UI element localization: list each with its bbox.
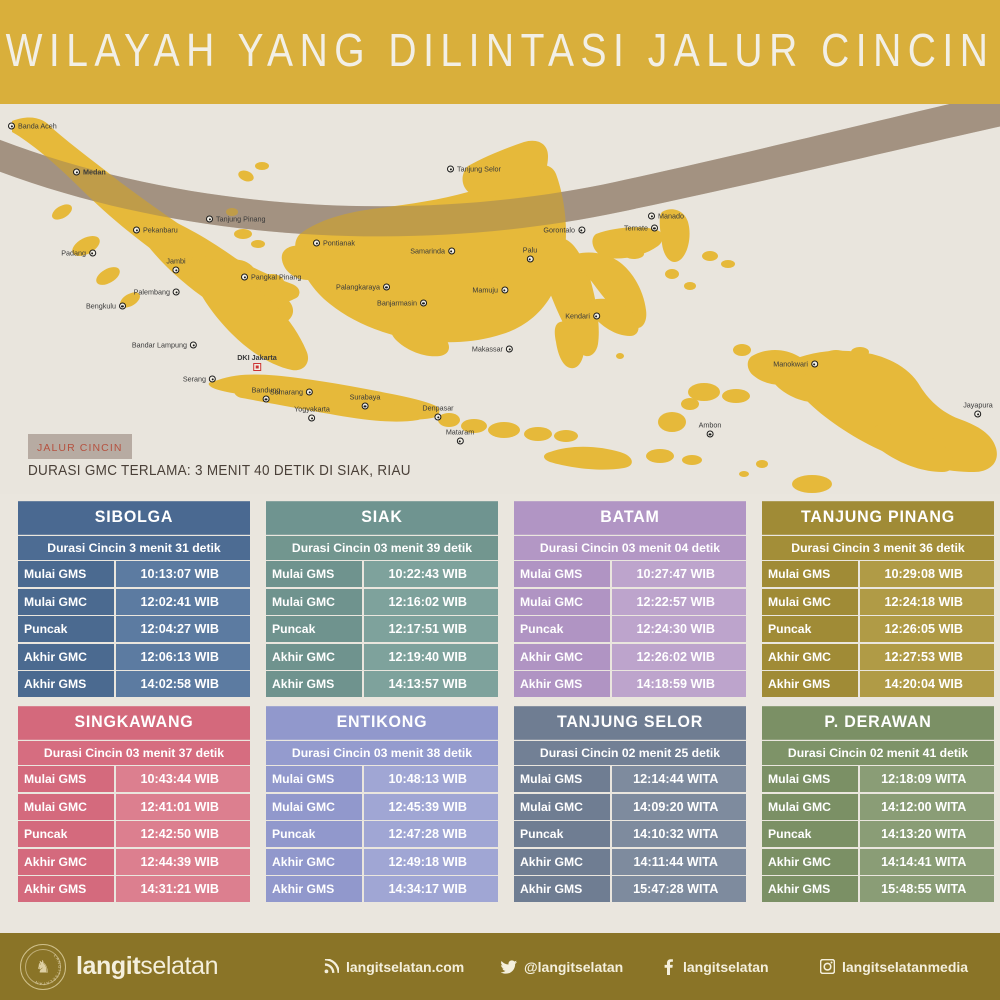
- card-row-value: 12:06:13 WIB: [116, 644, 251, 670]
- map-city-label: Tanjung Pinang: [216, 215, 266, 224]
- city-marker-icon: [447, 166, 454, 173]
- map-city-gorontalo: Gorontalo: [543, 226, 585, 235]
- map-city-label: Jambi: [166, 257, 185, 266]
- card-row-value: 12:19:40 WIB: [364, 644, 499, 670]
- brand-wordmark: langitselatan: [76, 954, 218, 979]
- card-row-value: 12:16:02 WIB: [364, 589, 499, 615]
- location-card: TANJUNG PINANGDurasi Cincin 3 menit 36 d…: [762, 502, 994, 697]
- card-time-row: Akhir GMS14:18:59 WIB: [514, 671, 746, 697]
- card-duration: Durasi Cincin 03 menit 39 detik: [266, 536, 498, 560]
- card-row-label: Mulai GMC: [514, 589, 610, 615]
- card-time-row: Akhir GMC14:11:44 WITA: [514, 849, 746, 875]
- card-city-title: SINGKAWANG: [18, 706, 250, 740]
- card-row-value: 12:02:41 WIB: [116, 589, 251, 615]
- city-marker-icon: [501, 287, 508, 294]
- map-city-dki-jakarta: DKI Jakarta: [237, 353, 277, 371]
- social-website[interactable]: langitselatan.com: [322, 958, 464, 976]
- city-marker-icon: [506, 346, 513, 353]
- card-row-value: 14:13:57 WIB: [364, 671, 499, 697]
- card-row-label: Akhir GMS: [266, 671, 362, 697]
- map-city-label: Bengkulu: [86, 302, 116, 311]
- map-city-bengkulu: Bengkulu: [86, 302, 126, 311]
- map-city-pontianak: Pontianak: [313, 239, 355, 248]
- map-city-palu: Palu: [523, 246, 537, 263]
- map-city-label: Palembang: [134, 288, 170, 297]
- city-marker-icon: [173, 267, 180, 274]
- map-city-bandar-lampung: Bandar Lampung: [132, 341, 197, 350]
- card-row-label: Puncak: [762, 821, 858, 847]
- card-time-row: Puncak12:47:28 WIB: [266, 821, 498, 847]
- legend-subtitle: DURASI GMC TERLAMA: 3 MENIT 40 DETIK DI …: [28, 462, 411, 478]
- brand-light-text: selatan: [140, 952, 218, 980]
- card-time-row: Akhir GMC12:26:02 WIB: [514, 644, 746, 670]
- card-row-value: 14:20:04 WIB: [860, 671, 995, 697]
- map-city-label: Serang: [183, 375, 206, 384]
- card-duration: Durasi Cincin 03 menit 38 detik: [266, 741, 498, 765]
- map-city-label: Makassar: [472, 345, 503, 354]
- card-time-row: Mulai GMS12:18:09 WITA: [762, 766, 994, 792]
- city-marker-icon: [383, 284, 390, 291]
- map-city-pekanbaru: Pekanbaru: [133, 226, 178, 235]
- map-city-palembang: Palembang: [134, 288, 180, 297]
- map-city-label: Jayapura: [963, 401, 993, 410]
- card-row-value: 14:11:44 WITA: [612, 849, 747, 875]
- card-time-row: Puncak12:42:50 WIB: [18, 821, 250, 847]
- card-time-row: Akhir GMC12:44:39 WIB: [18, 849, 250, 875]
- brand-block: LANGITSELATAN ♞ langitselatan: [20, 944, 218, 990]
- location-card: SINGKAWANGDurasi Cincin 03 menit 37 deti…: [18, 707, 250, 902]
- card-time-row: Akhir GMC12:27:53 WIB: [762, 644, 994, 670]
- legend-label: JALUR CINCIN: [37, 442, 123, 454]
- map-city-label: Ambon: [699, 421, 722, 430]
- card-row-label: Mulai GMS: [18, 561, 114, 587]
- card-time-row: Mulai GMS10:43:44 WIB: [18, 766, 250, 792]
- card-row-label: Mulai GMC: [266, 589, 362, 615]
- card-time-row: Akhir GMS14:02:58 WIB: [18, 671, 250, 697]
- city-marker-icon: [190, 342, 197, 349]
- card-duration: Durasi Cincin 02 menit 25 detik: [514, 741, 746, 765]
- card-row-value: 10:22:43 WIB: [364, 561, 499, 587]
- map-city-tanjung-selor: Tanjung Selor: [447, 165, 501, 174]
- card-time-row: Akhir GMS14:31:21 WIB: [18, 876, 250, 902]
- city-marker-icon: [526, 256, 533, 263]
- card-time-row: Puncak14:10:32 WITA: [514, 821, 746, 847]
- card-duration: Durasi Cincin 3 menit 36 detik: [762, 536, 994, 560]
- card-row-value: 12:26:05 WIB: [860, 616, 995, 642]
- city-marker-icon: [89, 250, 96, 257]
- map-city-padang: Padang: [61, 249, 96, 258]
- card-row-value: 14:18:59 WIB: [612, 671, 747, 697]
- card-time-row: Mulai GMC12:22:57 WIB: [514, 589, 746, 615]
- map-city-tanjung-pinang: Tanjung Pinang: [206, 215, 266, 224]
- card-city-title: TANJUNG PINANG: [762, 501, 994, 535]
- map-city-banda-aceh: Banda Aceh: [8, 122, 57, 131]
- card-city-title: SIBOLGA: [18, 501, 250, 535]
- map-city-denpasar: Denpasar: [422, 404, 453, 421]
- card-row-label: Akhir GMC: [762, 849, 858, 875]
- card-row-label: Mulai GMS: [266, 561, 362, 587]
- card-time-row: Mulai GMC14:12:00 WITA: [762, 794, 994, 820]
- map-city-label: Pontianak: [323, 239, 355, 248]
- city-marker-icon: [73, 169, 80, 176]
- social-facebook-label: langitselatan: [683, 959, 769, 975]
- city-marker-icon: [974, 411, 981, 418]
- city-marker-icon: [578, 227, 585, 234]
- card-row-label: Mulai GMC: [18, 589, 114, 615]
- card-city-title: P. DERAWAN: [762, 706, 994, 740]
- city-marker-icon: [420, 300, 427, 307]
- card-row-label: Akhir GMC: [18, 849, 114, 875]
- social-instagram[interactable]: langitselatanmedia: [818, 958, 968, 976]
- card-row-value: 12:18:09 WITA: [860, 766, 995, 792]
- card-row-value: 14:31:21 WIB: [116, 876, 251, 902]
- card-row-value: 14:09:20 WITA: [612, 794, 747, 820]
- card-time-row: Puncak12:26:05 WIB: [762, 616, 994, 642]
- card-time-row: Akhir GMC12:19:40 WIB: [266, 644, 498, 670]
- map-city-makassar: Makassar: [472, 345, 513, 354]
- map-city-label: Gorontalo: [543, 226, 575, 235]
- card-row-value: 12:45:39 WIB: [364, 794, 499, 820]
- map-city-label: Semarang: [270, 388, 303, 397]
- social-facebook[interactable]: langitselatan: [659, 958, 769, 976]
- location-card: TANJUNG SELORDurasi Cincin 02 menit 25 d…: [514, 707, 746, 902]
- location-card: BATAMDurasi Cincin 03 menit 04 detikMula…: [514, 502, 746, 697]
- card-row-value: 12:22:57 WIB: [612, 589, 747, 615]
- card-row-value: 15:48:55 WITA: [860, 876, 995, 902]
- card-row-value: 12:49:18 WIB: [364, 849, 499, 875]
- city-marker-icon: [651, 225, 658, 232]
- city-marker-icon: [811, 361, 818, 368]
- instagram-icon: [818, 958, 836, 976]
- card-time-row: Mulai GMC12:02:41 WIB: [18, 589, 250, 615]
- city-marker-icon: [306, 389, 313, 396]
- card-row-label: Puncak: [266, 616, 362, 642]
- card-row-label: Mulai GMC: [266, 794, 362, 820]
- card-row-value: 12:42:50 WIB: [116, 821, 251, 847]
- page-title: WILAYAH YANG DILINTASI JALUR CINCIN: [6, 26, 995, 78]
- card-row-value: 12:04:27 WIB: [116, 616, 251, 642]
- location-card: SIBOLGADurasi Cincin 3 menit 31 detikMul…: [18, 502, 250, 697]
- map-city-label: Kendari: [565, 312, 590, 321]
- card-row-value: 10:43:44 WIB: [116, 766, 251, 792]
- infographic-page: WILAYAH YANG DILINTASI JALUR CINCIN: [0, 0, 1000, 1000]
- location-cards-grid: SIBOLGADurasi Cincin 3 menit 31 detikMul…: [0, 502, 1000, 902]
- card-row-label: Akhir GMC: [18, 644, 114, 670]
- card-time-row: Mulai GMC12:16:02 WIB: [266, 589, 498, 615]
- city-marker-icon: [308, 415, 315, 422]
- map-city-medan: Medan: [73, 168, 106, 177]
- map-city-label: Palangkaraya: [336, 283, 380, 292]
- card-time-row: Akhir GMC12:49:18 WIB: [266, 849, 498, 875]
- map-city-manado: Manado: [648, 212, 684, 221]
- card-row-label: Puncak: [514, 616, 610, 642]
- map-city-label: Tanjung Selor: [457, 165, 501, 174]
- map-city-label: Samarinda: [410, 247, 445, 256]
- card-row-label: Akhir GMS: [514, 671, 610, 697]
- card-row-value: 14:12:00 WITA: [860, 794, 995, 820]
- card-time-row: Puncak12:24:30 WIB: [514, 616, 746, 642]
- city-marker-icon: [456, 438, 463, 445]
- map-city-semarang: Semarang: [270, 388, 313, 397]
- location-card: P. DERAWANDurasi Cincin 02 menit 41 deti…: [762, 707, 994, 902]
- card-time-row: Mulai GMS10:27:47 WIB: [514, 561, 746, 587]
- card-time-row: Mulai GMS10:13:07 WIB: [18, 561, 250, 587]
- card-time-row: Mulai GMS10:22:43 WIB: [266, 561, 498, 587]
- card-city-title: TANJUNG SELOR: [514, 706, 746, 740]
- social-twitter[interactable]: @langitselatan: [500, 958, 623, 976]
- card-time-row: Puncak14:13:20 WITA: [762, 821, 994, 847]
- card-city-title: BATAM: [514, 501, 746, 535]
- card-row-label: Mulai GMC: [762, 794, 858, 820]
- city-marker-icon: [173, 289, 180, 296]
- card-duration: Durasi Cincin 3 menit 31 detik: [18, 536, 250, 560]
- legend-jalur-cincin: JALUR CINCIN: [28, 434, 132, 459]
- location-card: ENTIKONGDurasi Cincin 03 menit 38 detikM…: [266, 707, 498, 902]
- card-city-title: SIAK: [266, 501, 498, 535]
- map-city-label: Denpasar: [422, 404, 453, 413]
- card-row-label: Mulai GMC: [762, 589, 858, 615]
- map-city-label: Banda Aceh: [18, 122, 57, 131]
- card-time-row: Mulai GMC12:41:01 WIB: [18, 794, 250, 820]
- card-time-row: Puncak12:17:51 WIB: [266, 616, 498, 642]
- brand-bold-text: langit: [76, 952, 140, 980]
- map-city-surabaya: Surabaya: [350, 393, 381, 410]
- card-row-label: Mulai GMC: [514, 794, 610, 820]
- card-time-row: Mulai GMC12:24:18 WIB: [762, 589, 994, 615]
- city-marker-icon: [263, 396, 270, 403]
- twitter-icon: [500, 958, 518, 976]
- map-city-manokwari: Manokwari: [773, 360, 818, 369]
- header-banner: WILAYAH YANG DILINTASI JALUR CINCIN: [0, 0, 1000, 104]
- card-row-label: Puncak: [266, 821, 362, 847]
- card-time-row: Mulai GMS10:29:08 WIB: [762, 561, 994, 587]
- card-row-label: Puncak: [18, 821, 114, 847]
- card-row-value: 12:17:51 WIB: [364, 616, 499, 642]
- card-row-label: Akhir GMS: [18, 671, 114, 697]
- map-city-palangkaraya: Palangkaraya: [336, 283, 390, 292]
- map-city-label: Manokwari: [773, 360, 808, 369]
- footer-bar: LANGITSELATAN ♞ langitselatan langitsela…: [0, 933, 1000, 1000]
- facebook-icon: [659, 958, 677, 976]
- rss-icon: [322, 958, 340, 976]
- map-city-label: Pangkal Pinang: [251, 273, 301, 282]
- city-marker-icon: [313, 240, 320, 247]
- card-row-label: Akhir GMC: [266, 644, 362, 670]
- map-city-label: Manado: [658, 212, 684, 221]
- map-city-label: Ternate: [624, 224, 648, 233]
- card-row-value: 12:14:44 WITA: [612, 766, 747, 792]
- card-row-value: 15:47:28 WITA: [612, 876, 747, 902]
- city-marker-icon: [707, 431, 714, 438]
- card-time-row: Akhir GMS14:20:04 WIB: [762, 671, 994, 697]
- card-time-row: Akhir GMC12:06:13 WIB: [18, 644, 250, 670]
- card-row-label: Akhir GMS: [266, 876, 362, 902]
- card-row-value: 12:44:39 WIB: [116, 849, 251, 875]
- card-row-value: 12:26:02 WIB: [612, 644, 747, 670]
- map-city-label: Surabaya: [350, 393, 381, 402]
- map-city-label: Pekanbaru: [143, 226, 178, 235]
- card-row-value: 12:47:28 WIB: [364, 821, 499, 847]
- city-marker-icon: [648, 213, 655, 220]
- social-twitter-label: @langitselatan: [524, 959, 623, 975]
- city-marker-icon: [593, 313, 600, 320]
- card-row-label: Mulai GMS: [18, 766, 114, 792]
- map-container: Banda AcehMedanPekanbaruPadangJambiBengk…: [0, 104, 1000, 494]
- map-city-mataram: Mataram: [446, 428, 474, 445]
- city-marker-icon: [241, 274, 248, 281]
- map-city-ambon: Ambon: [699, 421, 722, 438]
- card-row-label: Mulai GMS: [514, 766, 610, 792]
- city-marker-icon: [133, 227, 140, 234]
- card-time-row: Mulai GMC14:09:20 WITA: [514, 794, 746, 820]
- card-row-label: Akhir GMC: [514, 644, 610, 670]
- location-card: SIAKDurasi Cincin 03 menit 39 detikMulai…: [266, 502, 498, 697]
- card-row-value: 14:13:20 WITA: [860, 821, 995, 847]
- social-website-label: langitselatan.com: [346, 959, 464, 975]
- map-city-ternate: Ternate: [624, 224, 658, 233]
- card-time-row: Mulai GMS10:48:13 WIB: [266, 766, 498, 792]
- card-row-label: Akhir GMC: [762, 644, 858, 670]
- card-row-label: Mulai GMC: [18, 794, 114, 820]
- card-row-label: Akhir GMC: [514, 849, 610, 875]
- card-row-label: Akhir GMS: [18, 876, 114, 902]
- card-row-value: 12:27:53 WIB: [860, 644, 995, 670]
- card-row-value: 14:14:41 WITA: [860, 849, 995, 875]
- card-row-label: Puncak: [514, 821, 610, 847]
- card-row-value: 12:24:18 WIB: [860, 589, 995, 615]
- card-row-label: Mulai GMS: [762, 766, 858, 792]
- card-time-row: Akhir GMS14:34:17 WIB: [266, 876, 498, 902]
- map-city-label: Padang: [61, 249, 86, 258]
- map-city-label: Mamuju: [472, 286, 498, 295]
- card-row-value: 10:13:07 WIB: [116, 561, 251, 587]
- city-marker-icon: [448, 248, 455, 255]
- card-row-value: 14:34:17 WIB: [364, 876, 499, 902]
- card-row-value: 10:27:47 WIB: [612, 561, 747, 587]
- city-marker-icon: [206, 216, 213, 223]
- social-instagram-label: langitselatanmedia: [842, 959, 968, 975]
- map-city-label: Palu: [523, 246, 537, 255]
- card-time-row: Mulai GMC12:45:39 WIB: [266, 794, 498, 820]
- card-row-value: 10:48:13 WIB: [364, 766, 499, 792]
- card-row-value: 12:24:30 WIB: [612, 616, 747, 642]
- map-city-jayapura: Jayapura: [963, 401, 993, 418]
- card-row-label: Mulai GMS: [514, 561, 610, 587]
- city-marker-icon: [119, 303, 126, 310]
- card-row-label: Akhir GMC: [266, 849, 362, 875]
- langitselatan-seal-logo: LANGITSELATAN ♞: [20, 944, 66, 990]
- city-marker-icon: [362, 403, 369, 410]
- card-time-row: Puncak12:04:27 WIB: [18, 616, 250, 642]
- card-row-value: 10:29:08 WIB: [860, 561, 995, 587]
- card-time-row: Akhir GMS14:13:57 WIB: [266, 671, 498, 697]
- map-city-label: Banjarmasin: [377, 299, 417, 308]
- card-time-row: Akhir GMS15:47:28 WITA: [514, 876, 746, 902]
- card-duration: Durasi Cincin 03 menit 37 detik: [18, 741, 250, 765]
- city-marker-icon: [209, 376, 216, 383]
- map-city-serang: Serang: [183, 375, 216, 384]
- capital-marker-icon: [253, 363, 261, 371]
- card-row-value: 12:41:01 WIB: [116, 794, 251, 820]
- map-city-label: DKI Jakarta: [237, 353, 277, 362]
- card-row-label: Akhir GMS: [762, 876, 858, 902]
- map-city-label: Bandar Lampung: [132, 341, 187, 350]
- map-city-samarinda: Samarinda: [410, 247, 455, 256]
- card-row-value: 14:02:58 WIB: [116, 671, 251, 697]
- card-row-value: 14:10:32 WITA: [612, 821, 747, 847]
- card-time-row: Mulai GMS12:14:44 WITA: [514, 766, 746, 792]
- card-time-row: Akhir GMS15:48:55 WITA: [762, 876, 994, 902]
- horse-rider-icon: ♞: [35, 958, 50, 975]
- card-time-row: Akhir GMC14:14:41 WITA: [762, 849, 994, 875]
- card-row-label: Puncak: [762, 616, 858, 642]
- card-row-label: Puncak: [18, 616, 114, 642]
- city-marker-icon: [434, 414, 441, 421]
- map-city-label: Yogyakarta: [294, 405, 330, 414]
- map-city-yogyakarta: Yogyakarta: [294, 405, 330, 422]
- map-city-jambi: Jambi: [166, 257, 185, 274]
- indonesia-map: [0, 104, 1000, 494]
- card-row-label: Akhir GMS: [514, 876, 610, 902]
- map-city-kendari: Kendari: [565, 312, 600, 321]
- card-row-label: Mulai GMS: [266, 766, 362, 792]
- map-city-banjarmasin: Banjarmasin: [377, 299, 427, 308]
- card-duration: Durasi Cincin 03 menit 04 detik: [514, 536, 746, 560]
- map-city-label: Medan: [83, 168, 106, 177]
- map-city-mamuju: Mamuju: [472, 286, 508, 295]
- map-city-label: Mataram: [446, 428, 474, 437]
- city-marker-icon: [8, 123, 15, 130]
- map-city-pangkal-pinang: Pangkal Pinang: [241, 273, 301, 282]
- card-duration: Durasi Cincin 02 menit 41 detik: [762, 741, 994, 765]
- card-city-title: ENTIKONG: [266, 706, 498, 740]
- card-row-label: Akhir GMS: [762, 671, 858, 697]
- card-row-label: Mulai GMS: [762, 561, 858, 587]
